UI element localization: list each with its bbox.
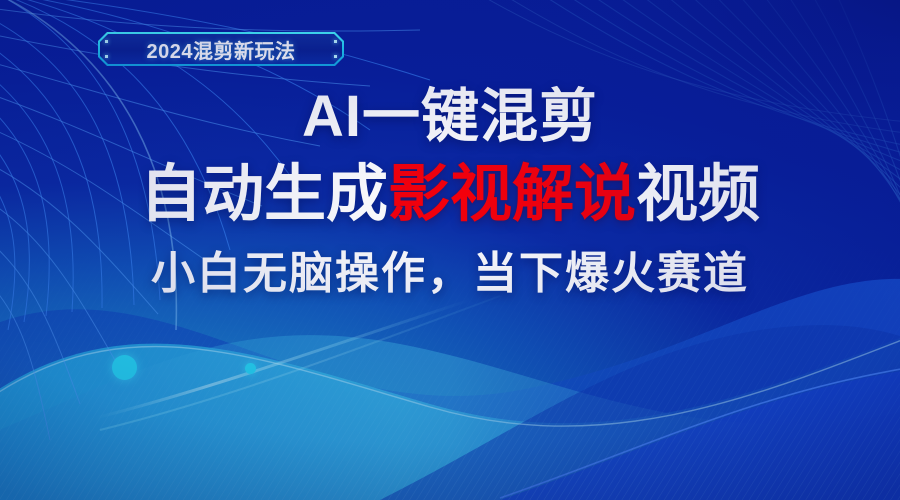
- headline-line-2-suffix: 视频: [636, 160, 760, 229]
- badge-corner-dot: [105, 40, 108, 43]
- badge-inner: 2024混剪新玩法: [100, 34, 342, 64]
- badge-corner-dot: [334, 55, 337, 58]
- headline-line-2: 自动生成影视解说视频: [0, 164, 900, 226]
- headline-line-3: 小白无脑操作，当下爆火赛道: [0, 252, 900, 296]
- badge-corner-dot: [334, 40, 337, 43]
- accent-circle-small: [245, 363, 256, 374]
- promo-badge: 2024混剪新玩法: [98, 32, 344, 66]
- headline-line-2-highlight: 影视解说: [388, 160, 636, 229]
- badge-corner-dot: [105, 55, 108, 58]
- accent-circle-large: [112, 355, 137, 380]
- promo-banner: 2024混剪新玩法 AI一键混剪 自动生成影视解说视频 小白无脑操作，当下爆火赛…: [0, 0, 900, 500]
- headline-line-2-prefix: 自动生成: [140, 160, 388, 229]
- headline-line-1: AI一键混剪: [0, 88, 900, 146]
- badge-label: 2024混剪新玩法: [147, 35, 296, 64]
- headline-block: AI一键混剪 自动生成影视解说视频 小白无脑操作，当下爆火赛道: [0, 88, 900, 296]
